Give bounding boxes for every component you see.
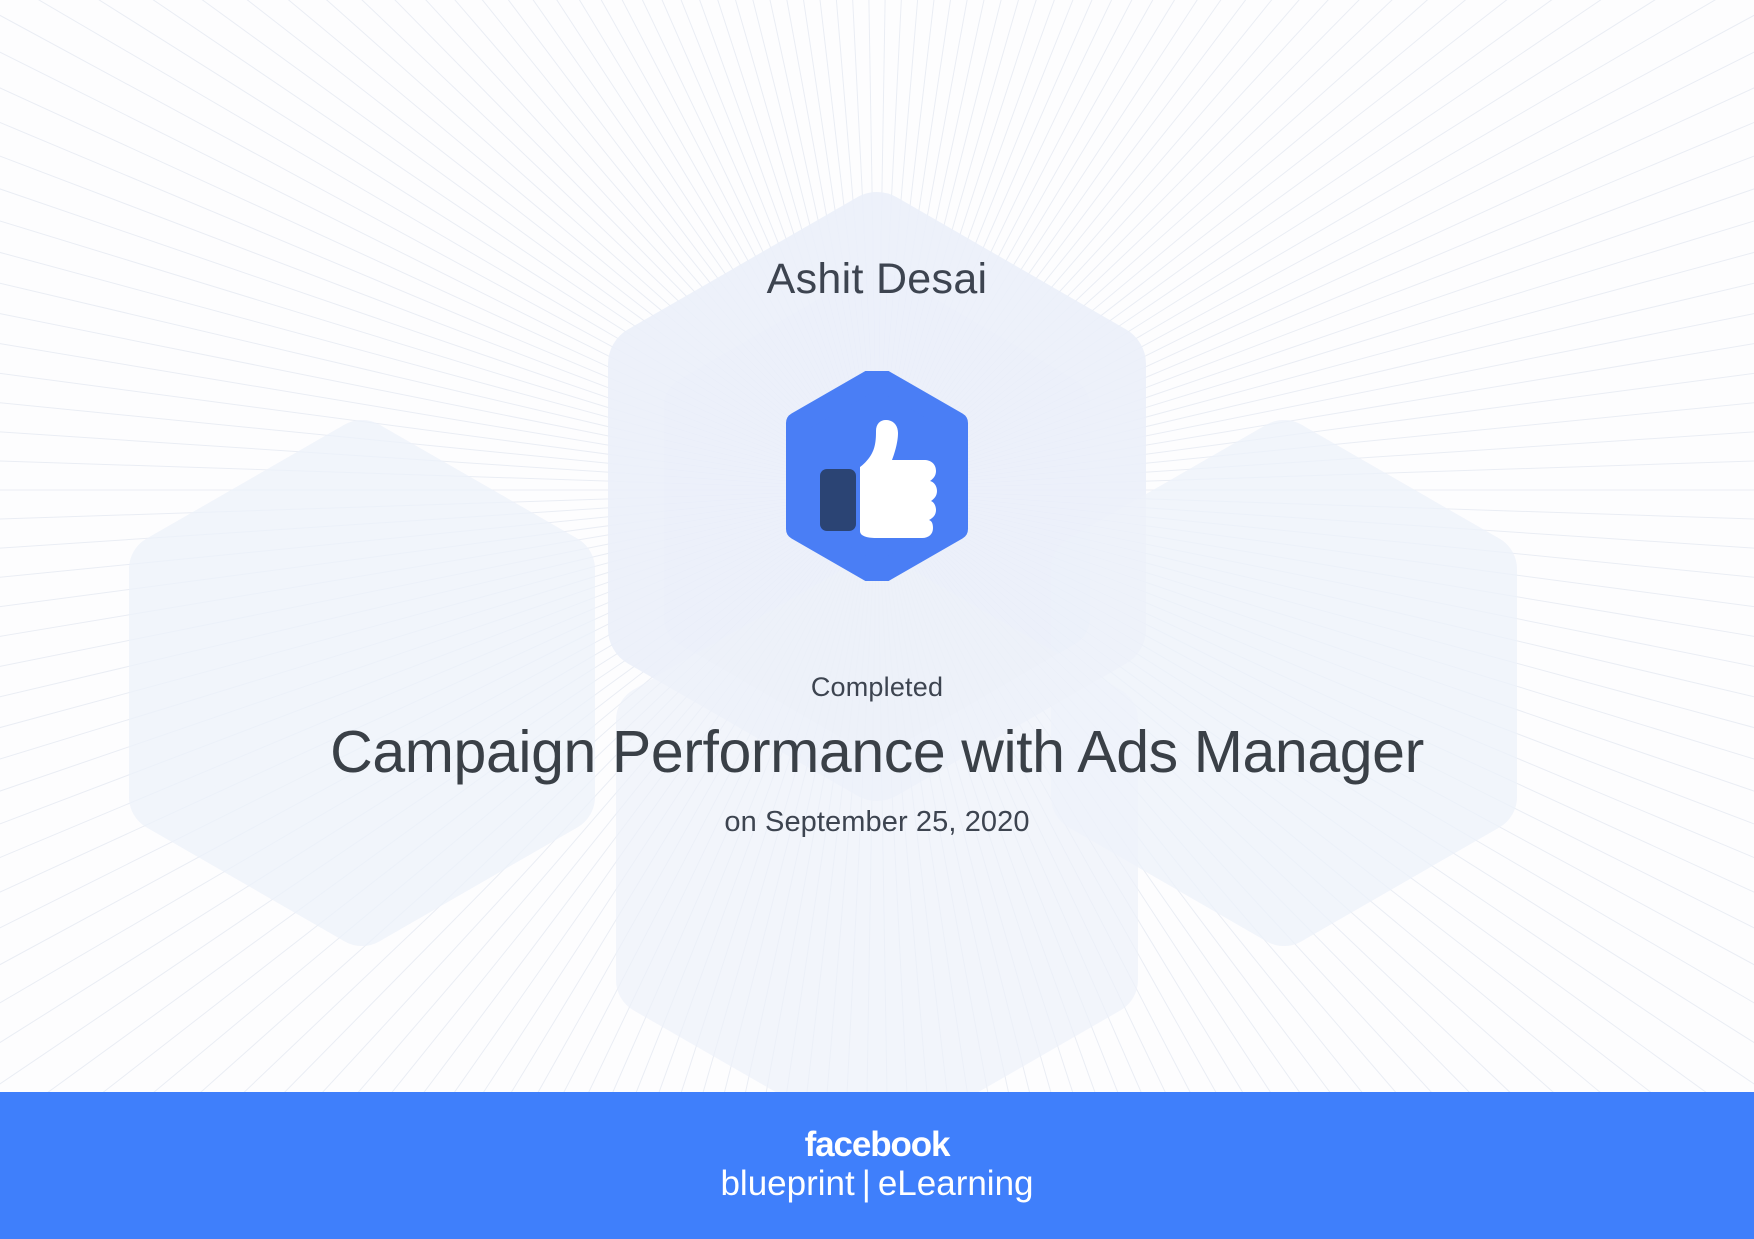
facebook-wordmark: facebook [805,1126,950,1163]
elearning-label: eLearning [878,1164,1034,1203]
completion-status-label: Completed [0,672,1754,703]
wordmark-separator: | [855,1163,878,1204]
achievement-badge [780,371,974,581]
thumbs-up-hexagon-badge-icon [780,371,974,581]
blueprint-label: blueprint [720,1164,854,1203]
certificate-content: Ashit Desai Completed Campaign Performan… [0,0,1754,1239]
recipient-name: Ashit Desai [0,255,1754,304]
completion-date: on September 25, 2020 [0,806,1754,839]
footer-brand-bar: facebook blueprint|eLearning [0,1092,1754,1239]
thumb-cuff [820,469,856,531]
blueprint-elearning-wordmark: blueprint|eLearning [720,1163,1033,1204]
certificate-page: Ashit Desai Completed Campaign Performan… [0,0,1754,1239]
course-title: Campaign Performance with Ads Manager [0,718,1754,786]
